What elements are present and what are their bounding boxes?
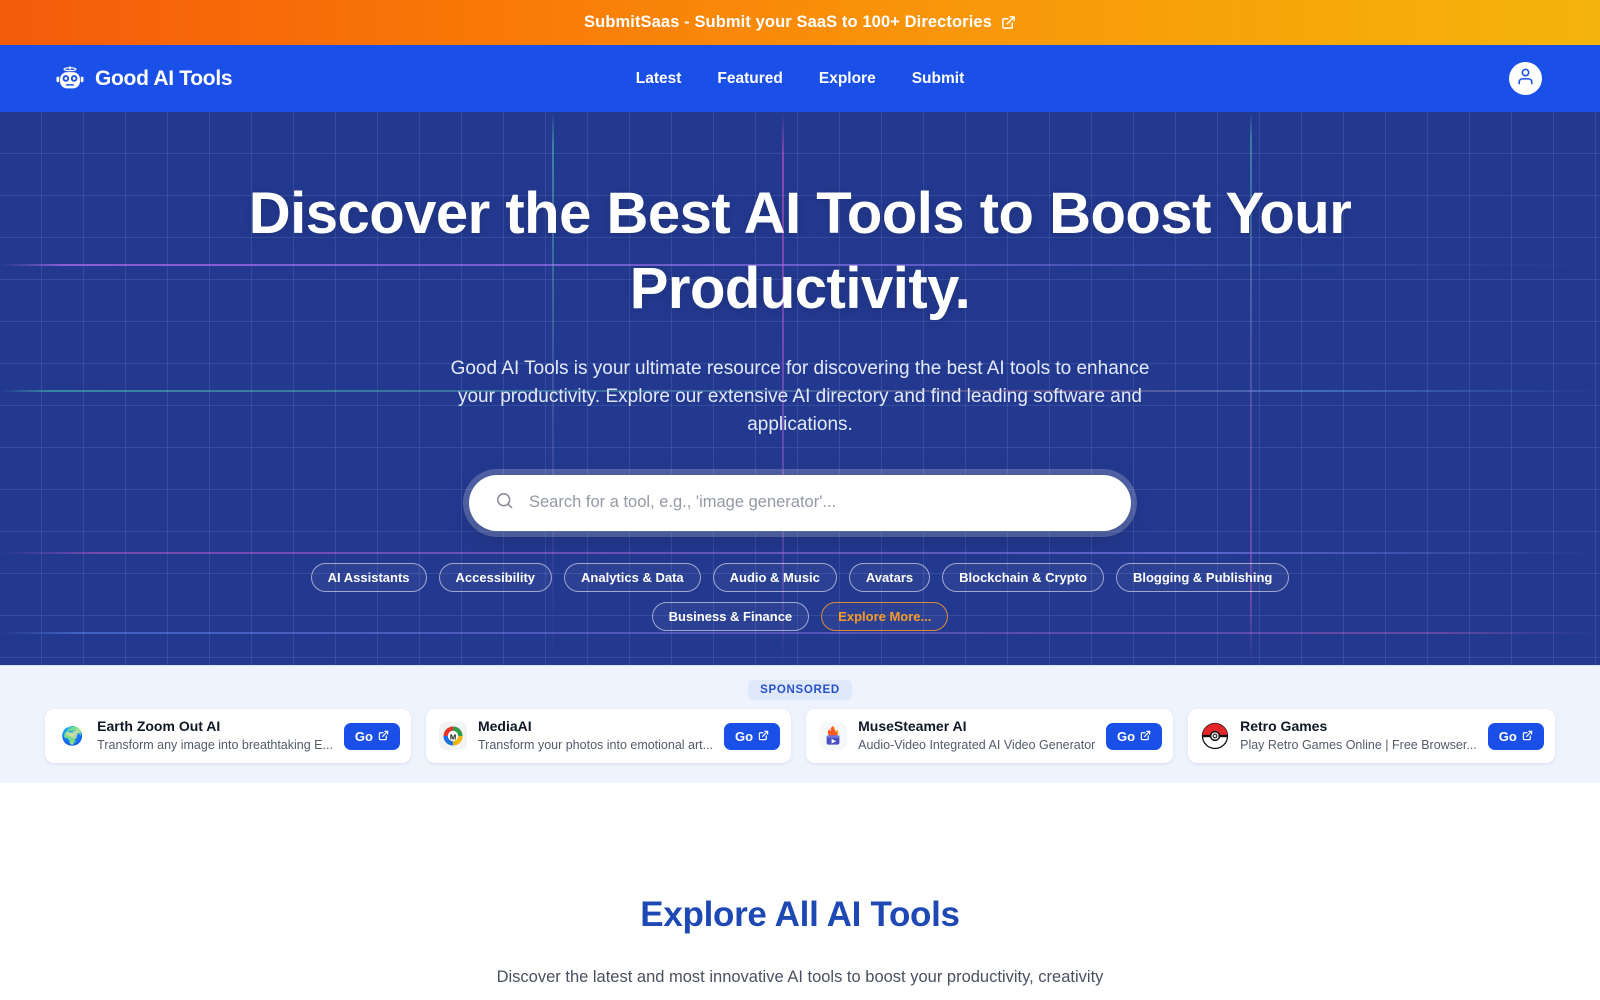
search-input[interactable] [529,493,1105,512]
explore-section-title: Explore All AI Tools [0,895,1600,935]
svg-text:M: M [450,732,456,741]
sponsored-card-title: MediaAI [478,718,532,734]
category-pill-blogging-publishing[interactable]: Blogging & Publishing [1116,563,1289,592]
category-pill-audio-music[interactable]: Audio & Music [713,563,837,592]
category-pill-blockchain-crypto[interactable]: Blockchain & Crypto [942,563,1104,592]
earth-globe-icon: 🌍 [58,722,86,750]
promo-banner-label: SubmitSaas - Submit your SaaS to 100+ Di… [584,13,992,32]
go-button[interactable]: Go [1488,723,1544,750]
brand-logo-link[interactable]: Good AI Tools [55,64,232,94]
category-pill-business-finance[interactable]: Business & Finance [652,602,810,631]
user-avatar-icon [1516,67,1535,91]
category-pills: AI Assistants Accessibility Analytics & … [0,563,1600,631]
category-pill-row-1: AI Assistants Accessibility Analytics & … [311,563,1290,592]
sponsored-card-desc: Audio-Video Integrated AI Video Generato… [858,738,1095,752]
external-link-icon [758,729,769,744]
sponsored-card-desc: Transform any image into breathtaking E.… [97,738,333,752]
main-navbar: Good AI Tools Latest Featured Explore Su… [0,45,1600,112]
nav-link-explore[interactable]: Explore [819,70,876,88]
go-button[interactable]: Go [344,723,400,750]
hero-title: Discover the Best AI Tools to Boost Your… [200,177,1400,327]
explore-more-button[interactable]: Explore More... [821,602,948,631]
go-button-label: Go [735,729,753,744]
search-icon [495,491,514,515]
explore-section-subtitle: Discover the latest and most innovative … [450,965,1150,990]
go-button[interactable]: Go [724,723,780,750]
sponsored-card[interactable]: Retro Games Play Retro Games Online | Fr… [1188,709,1555,763]
nav-link-submit[interactable]: Submit [912,70,965,88]
category-pill-avatars[interactable]: Avatars [849,563,930,592]
external-link-icon [1001,15,1016,30]
account-button[interactable] [1509,62,1542,95]
category-pill-row-2: Business & Finance Explore More... [652,602,949,631]
sponsored-card[interactable]: M MediaAI Transform your photos into emo… [426,709,791,763]
robot-head-icon [55,64,85,94]
hero-section: Discover the Best AI Tools to Boost Your… [0,112,1600,665]
explore-all-section: Explore All AI Tools Discover the latest… [0,783,1600,990]
nav-link-featured[interactable]: Featured [717,70,782,88]
sponsored-card-desc: Transform your photos into emotional art… [478,738,713,752]
go-button-label: Go [1499,729,1517,744]
sponsored-card-desc: Play Retro Games Online | Free Browser..… [1240,738,1477,752]
category-pill-analytics-data[interactable]: Analytics & Data [564,563,701,592]
go-button-label: Go [1117,729,1135,744]
hero-subtitle: Good AI Tools is your ultimate resource … [430,355,1170,439]
sponsored-section: SPONSORED 🌍 Earth Zoom Out AI Transform … [0,665,1600,783]
sponsored-card[interactable]: 🌍 Earth Zoom Out AI Transform any image … [45,709,411,763]
mediaai-logo-icon: M [439,722,467,750]
category-pill-ai-assistants[interactable]: AI Assistants [311,563,427,592]
external-link-icon [1140,729,1151,744]
sponsored-card-title: MuseSteamer AI [858,718,966,734]
nav-link-latest[interactable]: Latest [636,70,682,88]
sponsored-cards: 🌍 Earth Zoom Out AI Transform any image … [0,709,1600,763]
brand-name: Good AI Tools [95,67,232,91]
sponsored-badge: SPONSORED [748,680,852,700]
hero-accent-line [0,632,1600,634]
sponsored-card[interactable]: MuseSteamer AI Audio-Video Integrated AI… [806,709,1173,763]
nav-links: Latest Featured Explore Submit [636,70,965,88]
promo-banner[interactable]: SubmitSaas - Submit your SaaS to 100+ Di… [0,0,1600,45]
pokeball-icon [1201,722,1229,750]
promo-banner-content[interactable]: SubmitSaas - Submit your SaaS to 100+ Di… [584,13,1016,32]
search-bar[interactable] [469,475,1131,531]
external-link-icon [378,729,389,744]
go-button-label: Go [355,729,373,744]
external-link-icon [1522,729,1533,744]
sponsored-card-title: Retro Games [1240,718,1327,734]
sponsored-card-title: Earth Zoom Out AI [97,718,220,734]
musesteamer-logo-icon [819,722,847,750]
category-pill-accessibility[interactable]: Accessibility [439,563,553,592]
go-button[interactable]: Go [1106,723,1162,750]
